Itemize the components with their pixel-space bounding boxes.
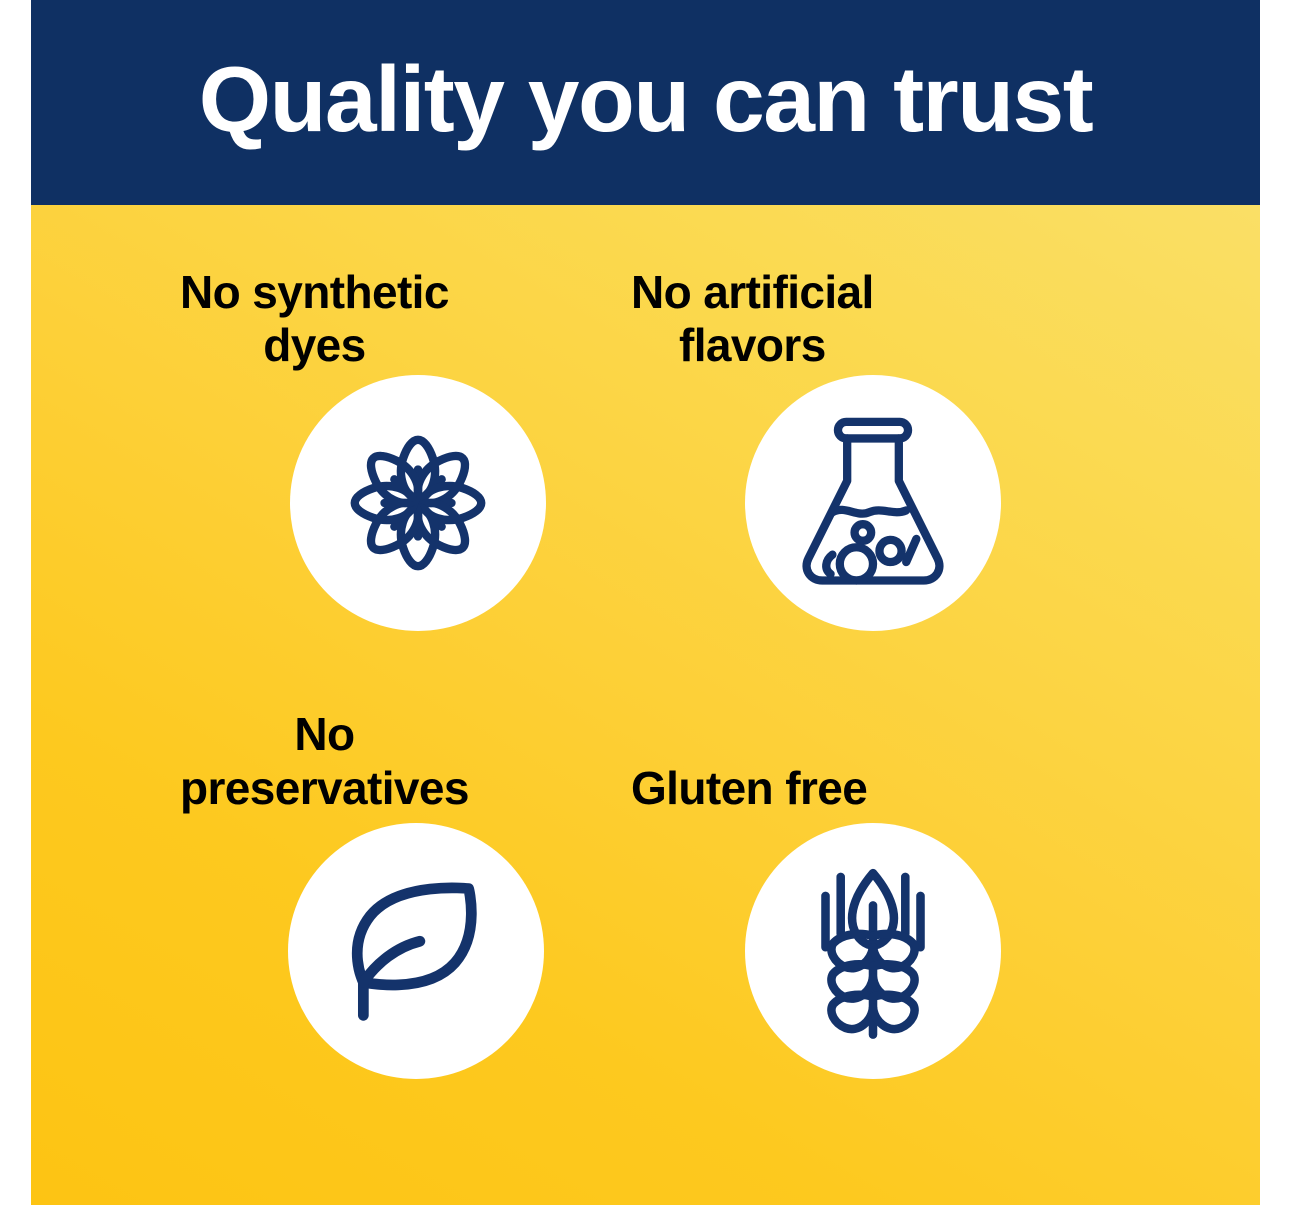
features-panel: No synthetic dyes [31,205,1260,1205]
feature-label-no-artificial-flavors: No artificial flavors [631,263,1111,375]
header-band: Quality you can trust [31,0,1260,205]
features-grid: No synthetic dyes [31,205,1260,1205]
icon-circle-no-artificial-flavors [745,375,1001,631]
feature-no-synthetic-dyes: No synthetic dyes [180,263,660,631]
feature-no-artificial-flavors: No artificial flavors [631,263,1111,631]
feature-no-preservatives: No preservatives [180,703,660,1079]
leaf-icon [338,873,494,1029]
feature-label-no-synthetic-dyes: No synthetic dyes [180,263,660,375]
icon-circle-gluten-free [745,823,1001,1079]
quality-you-can-trust-poster: Quality you can trust No synthetic dyes [0,0,1290,1205]
erlenmeyer-flask-icon [790,410,956,596]
icon-circle-no-preservatives [288,823,544,1079]
flower-petals-icon [325,410,511,596]
feature-label-gluten-free: Gluten free [631,703,1111,815]
feature-label-no-preservatives: No preservatives [180,703,660,815]
page-title: Quality you can trust [199,53,1093,152]
feature-gluten-free: Gluten free [631,703,1111,1079]
icon-circle-no-synthetic-dyes [290,375,546,631]
wheat-stalk-icon [798,856,948,1046]
